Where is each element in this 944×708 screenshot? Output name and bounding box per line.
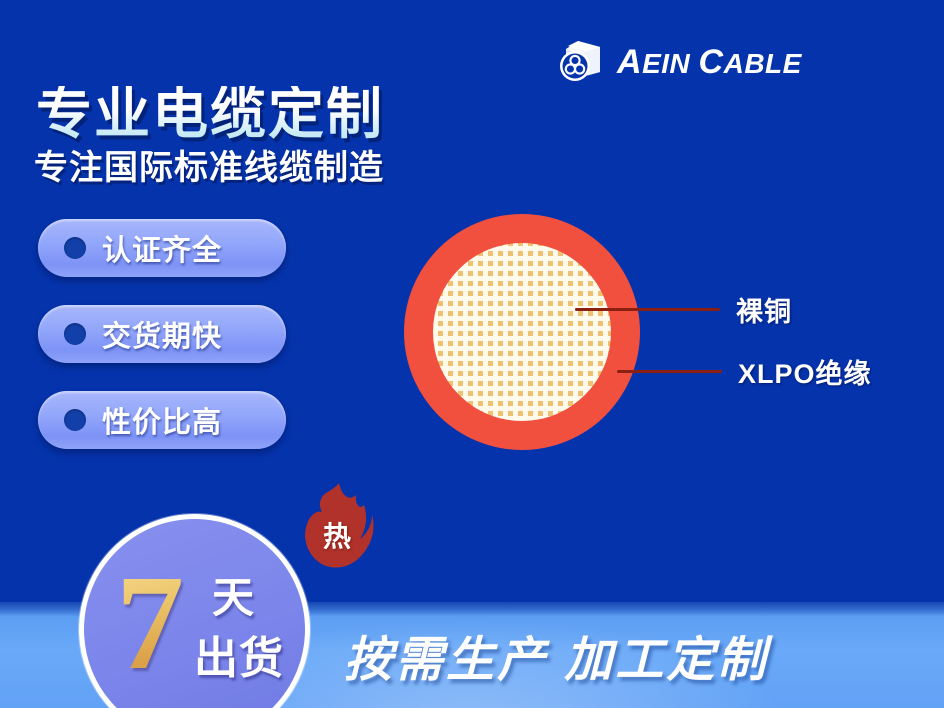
feature-pill-label: 认证齐全 xyxy=(102,227,222,269)
feature-pill-label: 性价比高 xyxy=(102,399,222,441)
badge-action: 出货 xyxy=(194,637,284,681)
cable-copper-core xyxy=(433,243,611,421)
hot-flame-badge: 热 xyxy=(298,481,376,573)
bullet-dot-icon xyxy=(64,409,86,431)
callout-label: XLPO绝缘 xyxy=(738,352,872,391)
cable-spool-box-logo-icon xyxy=(556,36,608,88)
badge-number: 7 xyxy=(116,555,184,691)
promo-poster: AEIN CABLE 专业电缆定制 专注国际标准线缆制造 认证齐全 交货期快 性… xyxy=(0,0,944,708)
badge-unit: 天 xyxy=(212,577,254,619)
page-title: 专业电缆定制 xyxy=(36,86,384,142)
brand-logo: AEIN CABLE xyxy=(556,36,802,88)
feature-pill-certification[interactable]: 认证齐全 xyxy=(38,219,286,277)
callout-bare-copper: 裸铜 xyxy=(575,290,792,329)
callout-xlpo-insulation: XLPO绝缘 xyxy=(617,352,872,391)
callout-leader-line xyxy=(617,370,722,373)
seven-day-shipping-badge: 7 天 出货 xyxy=(79,514,310,708)
bullet-dot-icon xyxy=(64,323,86,345)
callout-label: 裸铜 xyxy=(736,290,792,329)
cable-cross-section xyxy=(404,214,640,450)
brand-name-a: A xyxy=(617,43,642,81)
bullet-dot-icon xyxy=(64,237,86,259)
feature-pill-value[interactable]: 性价比高 xyxy=(38,391,286,449)
brand-name: AEIN CABLE xyxy=(617,45,802,79)
bottom-slogan: 按需生产 加工定制 xyxy=(344,620,768,690)
feature-pill-delivery[interactable]: 交货期快 xyxy=(38,305,286,363)
brand-name-c: C xyxy=(699,43,724,81)
feature-pill-label: 交货期快 xyxy=(102,313,222,355)
brand-name-able: ABLE xyxy=(724,48,802,79)
brand-name-ein: EIN xyxy=(642,48,690,79)
flame-label: 热 xyxy=(298,481,376,573)
callout-leader-line xyxy=(575,308,720,311)
feature-list: 认证齐全 交货期快 性价比高 xyxy=(38,219,286,477)
page-subtitle: 专注国际标准线缆制造 xyxy=(34,150,384,187)
